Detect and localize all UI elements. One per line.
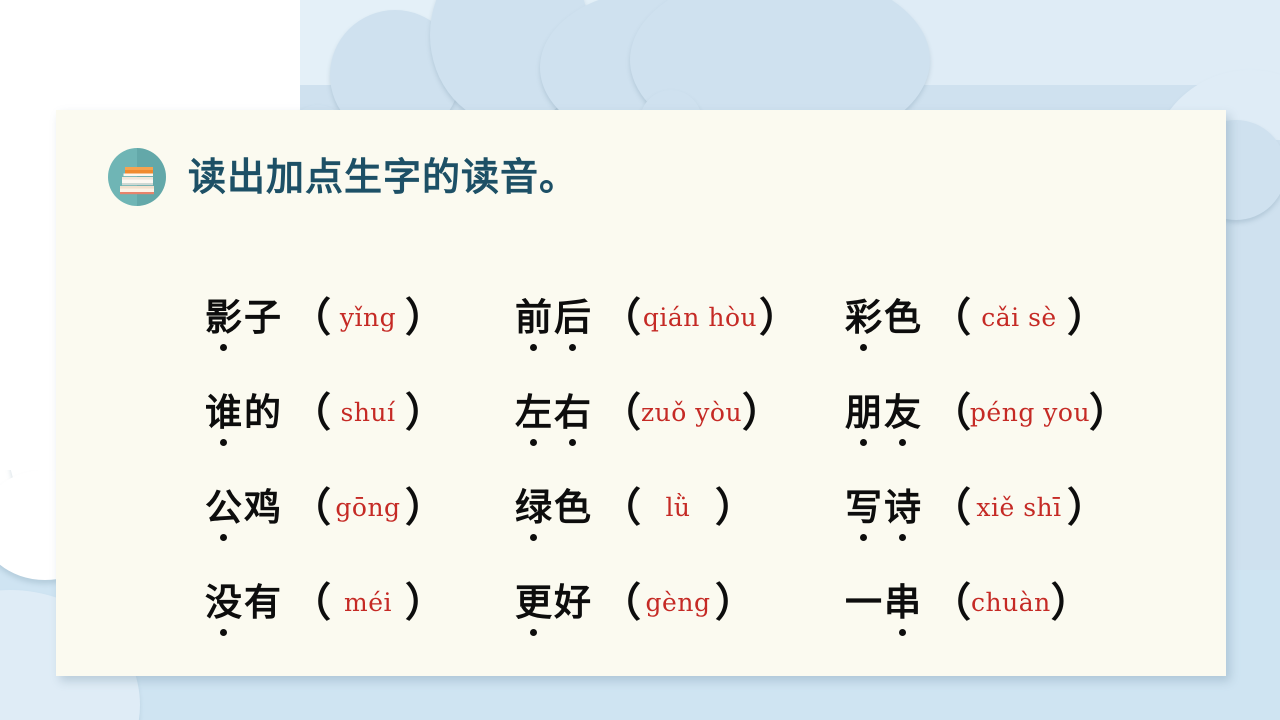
paren-close: ） [715, 583, 755, 623]
pinyin-answer[interactable]: péng you [965, 400, 1095, 425]
paren-open: （ [291, 583, 331, 623]
character: 鸡 [243, 489, 282, 526]
marked-character: 写 [844, 489, 883, 526]
pinyin-answer[interactable]: gèng [641, 590, 715, 615]
pinyin-answer[interactable]: gōng [331, 495, 405, 520]
paren-open: （ [931, 488, 971, 528]
pinyin-answer[interactable]: qián hòu [635, 305, 765, 330]
paren-close: ） [1051, 583, 1091, 623]
exercise-word: 更好 [514, 584, 592, 621]
exercise-word: 左右 [514, 394, 592, 431]
exercise-item: 没有（méi） [204, 555, 514, 650]
paren-close: ） [405, 488, 445, 528]
pinyin-answer[interactable]: shuí [331, 400, 405, 425]
marked-character: 朋 [844, 394, 883, 431]
paren-close: ） [742, 393, 782, 433]
marked-character: 诗 [883, 489, 922, 526]
marked-character: 更 [514, 584, 553, 621]
pinyin-answer[interactable]: zuǒ yòu [641, 400, 742, 425]
slide-root: 读出加点生字的读音。 影子（yǐng）前后（qián hòu）彩色（cǎi sè… [0, 0, 1280, 720]
marked-character: 后 [553, 299, 592, 336]
exercise-word: 绿色 [514, 489, 592, 526]
paren-close: ） [405, 393, 445, 433]
exercise-word: 没有 [204, 584, 282, 621]
marked-character: 串 [883, 584, 922, 621]
marked-character: 影 [204, 299, 243, 336]
paren-open: （ [291, 298, 331, 338]
character: 子 [243, 299, 282, 336]
card-header: 读出加点生字的读音。 [108, 148, 578, 206]
exercise-word: 彩色 [844, 299, 922, 336]
paren-open: （ [931, 298, 971, 338]
marked-character: 右 [553, 394, 592, 431]
exercise-item: 谁的（shuí） [204, 365, 514, 460]
page-title: 读出加点生字的读音。 [188, 158, 578, 196]
exercise-item: 彩色（cǎi sè） [844, 270, 1174, 365]
pinyin-answer[interactable]: cǎi sè [971, 305, 1067, 330]
exercise-word: 朋友 [844, 394, 922, 431]
pinyin-answer[interactable]: lǜ [641, 495, 715, 520]
exercise-word: 影子 [204, 299, 282, 336]
exercise-item: 绿色（lǜ） [514, 460, 844, 555]
paren-open: （ [601, 393, 641, 433]
exercise-item: 一串（chuàn） [844, 555, 1174, 650]
paren-close: ） [715, 488, 755, 528]
exercise-word: 一串 [844, 584, 922, 621]
paren-close: ） [405, 298, 445, 338]
paren-close: ） [1067, 488, 1107, 528]
paren-open: （ [601, 583, 641, 623]
exercise-item: 朋友（péng you） [844, 365, 1174, 460]
exercise-item: 更好（gèng） [514, 555, 844, 650]
paren-open: （ [291, 393, 331, 433]
exercise-word: 写诗 [844, 489, 922, 526]
exercise-grid: 影子（yǐng）前后（qián hòu）彩色（cǎi sè）谁的（shuí）左右… [204, 270, 1204, 650]
paren-open: （ [291, 488, 331, 528]
paren-open: （ [601, 488, 641, 528]
paren-close: ） [405, 583, 445, 623]
paren-close: ） [759, 298, 799, 338]
exercise-item: 影子（yǐng） [204, 270, 514, 365]
pinyin-answer[interactable]: méi [331, 590, 405, 615]
exercise-item: 前后（qián hòu） [514, 270, 844, 365]
exercise-word: 前后 [514, 299, 592, 336]
paren-open: （ [931, 583, 971, 623]
character: 有 [243, 584, 282, 621]
stacked-books-icon [108, 148, 166, 206]
marked-character: 绿 [514, 489, 553, 526]
character: 一 [844, 584, 883, 621]
pinyin-answer[interactable]: chuàn [971, 590, 1051, 615]
marked-character: 友 [883, 394, 922, 431]
character: 好 [553, 584, 592, 621]
character: 色 [883, 299, 922, 336]
marked-character: 公 [204, 489, 243, 526]
paren-close: ） [1089, 393, 1129, 433]
exercise-word: 公鸡 [204, 489, 282, 526]
marked-character: 彩 [844, 299, 883, 336]
marked-character: 左 [514, 394, 553, 431]
exercise-item: 写诗（xiě shī） [844, 460, 1174, 555]
character: 色 [553, 489, 592, 526]
content-card: 读出加点生字的读音。 影子（yǐng）前后（qián hòu）彩色（cǎi sè… [56, 110, 1226, 676]
marked-character: 前 [514, 299, 553, 336]
marked-character: 没 [204, 584, 243, 621]
pinyin-answer[interactable]: yǐng [331, 305, 405, 330]
pinyin-answer[interactable]: xiě shī [971, 495, 1067, 520]
character: 的 [243, 394, 282, 431]
exercise-item: 左右（zuǒ yòu） [514, 365, 844, 460]
exercise-item: 公鸡（gōng） [204, 460, 514, 555]
exercise-word: 谁的 [204, 394, 282, 431]
paren-close: ） [1067, 298, 1107, 338]
marked-character: 谁 [204, 394, 243, 431]
